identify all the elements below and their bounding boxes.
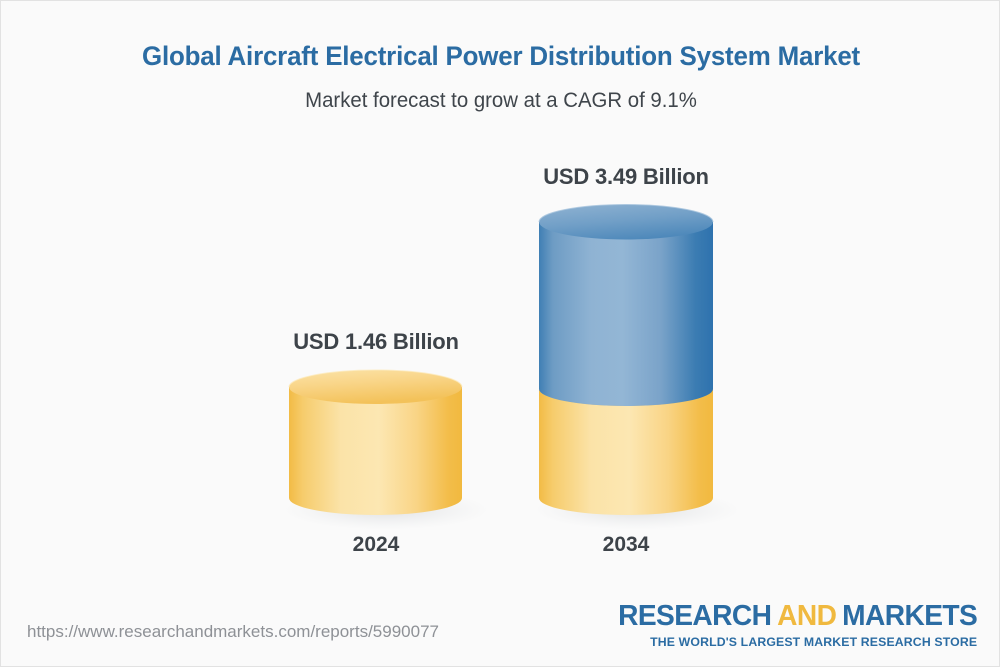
logo-tagline: THE WORLD'S LARGEST MARKET RESEARCH STOR… (611, 636, 977, 648)
bar-2024 (282, 370, 490, 530)
data-label-2034: USD 3.49 Billion (519, 164, 733, 190)
research-and-markets-logo[interactable]: RESEARCHANDMARKETS THE WORLD'S LARGEST M… (607, 602, 977, 648)
plot-area: USD 1.46 Billion USD 3.49 Billion 2024 2… (1, 1, 1000, 667)
chart-canvas: Global Aircraft Electrical Power Distrib… (0, 0, 1000, 667)
logo-word-research: RESEARCH (618, 600, 771, 632)
category-label-2034: 2034 (519, 533, 733, 557)
category-label-2024: 2024 (269, 533, 483, 557)
cylinder-graphics (1, 1, 1000, 667)
source-url[interactable]: https://www.researchandmarkets.com/repor… (27, 622, 439, 642)
logo-word-and: AND (777, 600, 836, 632)
logo-wordmark: RESEARCHANDMARKETS (618, 602, 977, 631)
data-label-2024: USD 1.46 Billion (269, 329, 483, 355)
logo-word-markets: MARKETS (842, 600, 977, 632)
bar-2034 (533, 205, 741, 531)
